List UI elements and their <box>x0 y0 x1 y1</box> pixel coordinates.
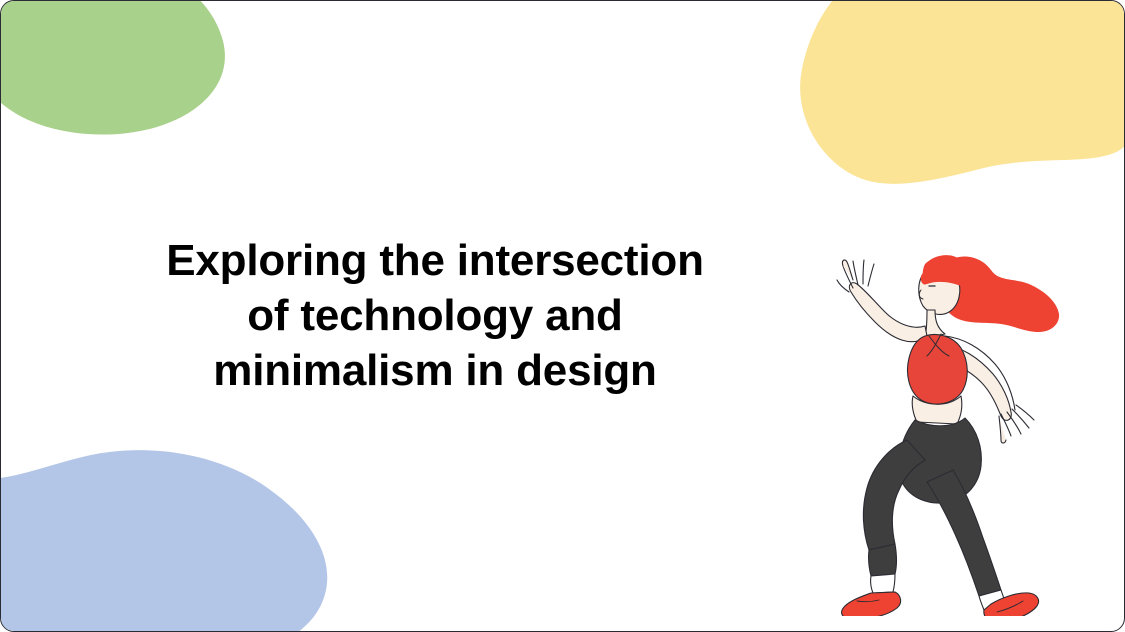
page-title: Exploring the intersection of technology… <box>97 233 773 398</box>
green-blob-decoration <box>0 0 235 145</box>
blue-blob-decoration <box>0 431 359 632</box>
title-line-1: Exploring the intersection <box>97 233 773 288</box>
title-line-2: of technology and <box>97 288 773 343</box>
yellow-blob-decoration <box>784 0 1125 197</box>
presentation-slide: Exploring the intersection of technology… <box>0 0 1125 632</box>
title-line-3: minimalism in design <box>97 343 773 398</box>
running-woman-illustration <box>801 244 1061 616</box>
